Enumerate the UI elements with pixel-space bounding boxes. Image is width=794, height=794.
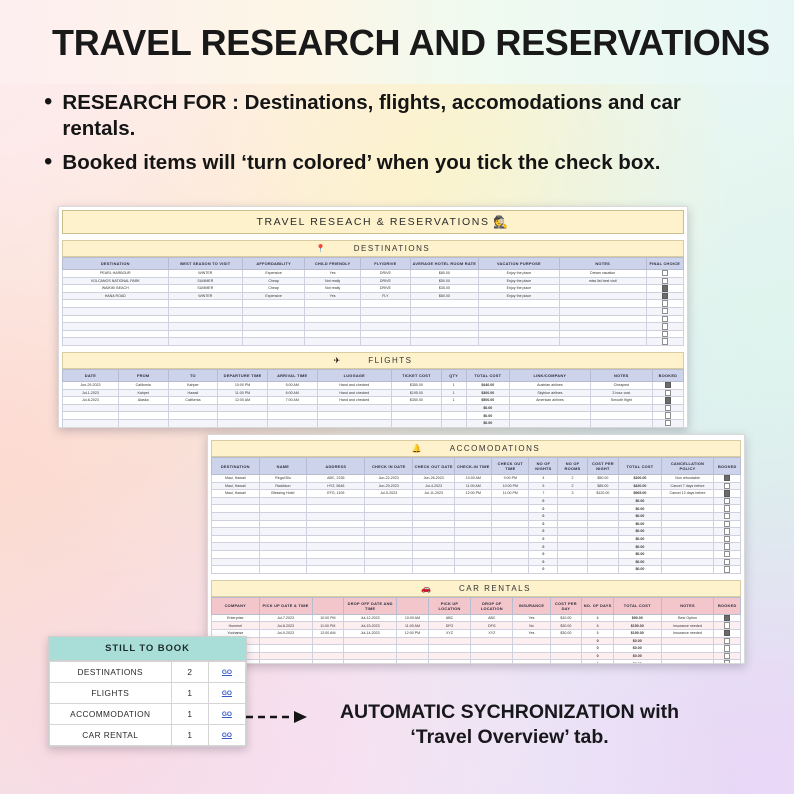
booked-checkbox-cell[interactable]	[646, 323, 683, 331]
table-cell[interactable]	[365, 558, 413, 566]
table-cell[interactable]: 12:00 AM	[312, 629, 344, 637]
table-cell[interactable]	[510, 427, 591, 428]
booked-checkbox-cell[interactable]	[714, 475, 741, 483]
table-cell[interactable]	[661, 645, 714, 653]
table-cell[interactable]: Hand and checked	[317, 397, 392, 405]
table-cell[interactable]: ABC	[471, 614, 513, 622]
table-cell[interactable]: 11:00 PM	[492, 490, 529, 498]
table-cell[interactable]	[587, 520, 619, 528]
table-cell[interactable]	[397, 660, 429, 664]
table-cell[interactable]	[168, 307, 243, 315]
booked-checkbox-cell[interactable]	[714, 490, 741, 498]
table-cell[interactable]: XYZ	[428, 629, 470, 637]
table-row[interactable]	[63, 323, 684, 331]
table-cell[interactable]: California	[168, 397, 218, 405]
table-cell[interactable]	[455, 558, 492, 566]
table-cell[interactable]	[587, 497, 619, 505]
booked-checkbox-cell[interactable]	[714, 622, 741, 630]
table-cell[interactable]	[307, 512, 365, 520]
checkbox-unchecked-icon[interactable]	[724, 528, 730, 534]
table-cell[interactable]	[168, 419, 218, 427]
table-cell[interactable]	[63, 315, 169, 323]
table-cell[interactable]: $0.00	[613, 652, 661, 660]
table-cell[interactable]	[455, 505, 492, 513]
table-cell[interactable]: $0.00	[619, 497, 661, 505]
table-cell[interactable]	[559, 307, 646, 315]
table-cell[interactable]: Hummel	[212, 622, 260, 630]
table-cell[interactable]	[479, 307, 560, 315]
table-cell[interactable]: $100.00	[619, 475, 661, 483]
table-cell[interactable]	[413, 543, 455, 551]
table-cell[interactable]	[455, 543, 492, 551]
table-cell[interactable]	[397, 645, 429, 653]
table-cell[interactable]: 0	[529, 528, 558, 536]
table-cell[interactable]: 0	[529, 512, 558, 520]
table-cell[interactable]	[559, 292, 646, 300]
booked-checkbox-cell[interactable]	[714, 543, 741, 551]
table-row[interactable]: 0$0.00	[212, 497, 741, 505]
table-cell[interactable]: $500.00	[466, 397, 509, 405]
table-cell[interactable]: 3 hour cost	[590, 389, 652, 397]
table-cell[interactable]	[365, 520, 413, 528]
table-cell[interactable]	[307, 528, 365, 536]
checkbox-checked-icon[interactable]	[662, 293, 668, 299]
table-cell[interactable]	[661, 566, 714, 574]
table-cell[interactable]: $120.00	[587, 490, 619, 498]
table-cell[interactable]: 6	[582, 614, 614, 622]
table-cell[interactable]: SUMMER	[168, 285, 243, 293]
table-cell[interactable]	[259, 645, 312, 653]
table-cell[interactable]	[307, 497, 365, 505]
table-cell[interactable]: Jul-11-2023	[413, 490, 455, 498]
table-row[interactable]: HANA ROADWINTERExpensiveYesFLY$60.00Enjo…	[63, 292, 684, 300]
booked-checkbox-cell[interactable]	[646, 270, 683, 278]
checkbox-checked-icon[interactable]	[724, 490, 730, 496]
table-cell[interactable]: $30.00	[550, 629, 582, 637]
table-cell[interactable]	[471, 637, 513, 645]
table-cell[interactable]: $0.00	[466, 412, 509, 420]
table-cell[interactable]	[361, 315, 411, 323]
table-cell[interactable]	[168, 412, 218, 420]
table-cell[interactable]	[365, 550, 413, 558]
table-cell[interactable]	[455, 512, 492, 520]
table-cell[interactable]	[559, 300, 646, 308]
table-cell[interactable]	[661, 550, 714, 558]
table-cell[interactable]	[479, 330, 560, 338]
table-cell[interactable]	[558, 497, 587, 505]
table-cell[interactable]	[365, 512, 413, 520]
table-cell[interactable]: DRIVE	[361, 285, 411, 293]
table-cell[interactable]	[212, 558, 260, 566]
table-cell[interactable]: Expensive	[243, 270, 305, 278]
table-cell[interactable]	[587, 512, 619, 520]
table-cell[interactable]	[212, 512, 260, 520]
checkbox-checked-icon[interactable]	[662, 285, 668, 291]
table-cell[interactable]	[63, 419, 119, 427]
booked-checkbox-cell[interactable]	[652, 419, 683, 427]
table-cell[interactable]	[492, 520, 529, 528]
table-cell[interactable]	[63, 404, 119, 412]
table-cell[interactable]	[587, 550, 619, 558]
table-cell[interactable]	[305, 300, 361, 308]
table-cell[interactable]	[361, 323, 411, 331]
table-cell[interactable]: 5	[529, 482, 558, 490]
table-cell[interactable]: $0.00	[466, 404, 509, 412]
table-cell[interactable]	[550, 637, 582, 645]
table-cell[interactable]: Yes	[513, 614, 550, 622]
checkbox-unchecked-icon[interactable]	[724, 566, 730, 572]
table-cell[interactable]	[471, 652, 513, 660]
checkbox-unchecked-icon[interactable]	[665, 420, 671, 426]
table-cell[interactable]	[259, 550, 307, 558]
table-cell[interactable]: DRIVE	[361, 270, 411, 278]
table-cell[interactable]: 0	[529, 550, 558, 558]
table-cell[interactable]: Raddison	[259, 482, 307, 490]
table-cell[interactable]	[558, 550, 587, 558]
table-cell[interactable]: Cancel 7 days before	[661, 482, 714, 490]
table-cell[interactable]	[661, 528, 714, 536]
table-cell[interactable]: Not really	[305, 285, 361, 293]
table-cell[interactable]: $35.00	[410, 285, 478, 293]
booked-checkbox-cell[interactable]	[646, 330, 683, 338]
table-cell[interactable]	[307, 505, 365, 513]
checkbox-unchecked-icon[interactable]	[665, 405, 671, 411]
table-cell[interactable]: 0	[582, 660, 614, 664]
booked-checkbox-cell[interactable]	[714, 629, 741, 637]
table-cell[interactable]	[259, 543, 307, 551]
table-cell[interactable]: 10:00 PM	[492, 482, 529, 490]
table-cell[interactable]	[661, 558, 714, 566]
table-row[interactable]	[63, 330, 684, 338]
table-cell[interactable]	[492, 505, 529, 513]
table-cell[interactable]: 6:00 AM	[267, 389, 317, 397]
table-cell[interactable]	[305, 330, 361, 338]
table-cell[interactable]: $0.00	[619, 505, 661, 513]
table-cell[interactable]: Kahper	[168, 381, 218, 389]
table-cell[interactable]: Enjoy the place	[479, 277, 560, 285]
table-cell[interactable]: 0	[529, 566, 558, 574]
table-cell[interactable]	[168, 323, 243, 331]
table-cell[interactable]	[550, 652, 582, 660]
table-cell[interactable]: 0	[582, 652, 614, 660]
table-cell[interactable]	[63, 412, 119, 420]
still-to-book-row[interactable]: DESTINATIONS2GO	[50, 662, 246, 683]
table-row[interactable]: Maui, HawaiiBlessing HotelEFG, 1109Jul-5…	[212, 490, 741, 498]
table-cell[interactable]: Austrian airlines	[510, 381, 591, 389]
table-cell[interactable]	[243, 307, 305, 315]
table-cell[interactable]	[267, 412, 317, 420]
table-cell[interactable]	[661, 512, 714, 520]
table-cell[interactable]	[410, 323, 478, 331]
table-cell[interactable]	[413, 566, 455, 574]
booked-checkbox-cell[interactable]	[652, 397, 683, 405]
table-cell[interactable]	[168, 330, 243, 338]
checkbox-unchecked-icon[interactable]	[724, 660, 730, 664]
booked-checkbox-cell[interactable]	[714, 637, 741, 645]
table-cell[interactable]: $965.00	[619, 490, 661, 498]
table-cell[interactable]: $0.00	[619, 566, 661, 574]
checkbox-unchecked-icon[interactable]	[662, 331, 668, 337]
table-cell[interactable]	[558, 535, 587, 543]
table-cell[interactable]	[413, 505, 455, 513]
table-cell[interactable]	[317, 404, 392, 412]
table-cell[interactable]: Best Option	[661, 614, 714, 622]
table-cell[interactable]	[661, 497, 714, 505]
table-cell[interactable]	[218, 419, 268, 427]
table-cell[interactable]	[441, 404, 466, 412]
table-cell[interactable]: 5	[582, 629, 614, 637]
table-cell[interactable]: $30.00	[550, 622, 582, 630]
booked-checkbox-cell[interactable]	[714, 566, 741, 574]
table-cell[interactable]: $440.00	[466, 381, 509, 389]
checkbox-checked-icon[interactable]	[665, 397, 671, 403]
table-cell[interactable]	[558, 566, 587, 574]
table-cell[interactable]: Cancel 12 days before	[661, 490, 714, 498]
table-cell[interactable]: 12:00 AM	[218, 397, 268, 405]
table-cell[interactable]: $350.00	[392, 397, 442, 405]
table-cell[interactable]	[305, 315, 361, 323]
still-to-book-go-link[interactable]: GO	[208, 725, 245, 746]
table-cell[interactable]	[317, 427, 392, 428]
table-cell[interactable]: Hand and checked	[317, 381, 392, 389]
table-cell[interactable]: 0	[529, 558, 558, 566]
table-cell[interactable]	[492, 535, 529, 543]
table-cell[interactable]	[590, 412, 652, 420]
table-cell[interactable]	[413, 550, 455, 558]
table-row[interactable]: Maui, HawaiiRaddisonHYZ, 5648Jun-29-2023…	[212, 482, 741, 490]
table-row[interactable]: 0$0.00	[212, 637, 741, 645]
table-cell[interactable]	[63, 323, 169, 331]
table-cell[interactable]: Blessing Hotel	[259, 490, 307, 498]
checkbox-unchecked-icon[interactable]	[662, 323, 668, 329]
table-accomodations[interactable]: DESTINATIONNAMEADDRESSCHECK IN DATECHECK…	[211, 457, 741, 574]
checkbox-unchecked-icon[interactable]	[724, 536, 730, 542]
checkbox-unchecked-icon[interactable]	[724, 521, 730, 527]
table-cell[interactable]: 3	[558, 490, 587, 498]
table-cell[interactable]: WINTER	[168, 270, 243, 278]
table-cell[interactable]: Jul-12-2023	[344, 614, 397, 622]
booked-checkbox-cell[interactable]	[714, 645, 741, 653]
table-cell[interactable]	[492, 528, 529, 536]
checkbox-unchecked-icon[interactable]	[724, 543, 730, 549]
table-cell[interactable]	[558, 520, 587, 528]
booked-checkbox-cell[interactable]	[646, 300, 683, 308]
table-cell[interactable]	[259, 512, 307, 520]
table-cell[interactable]: Yes	[513, 629, 550, 637]
table-cell[interactable]	[587, 535, 619, 543]
table-cell[interactable]: $195.00	[392, 389, 442, 397]
table-cell[interactable]	[441, 419, 466, 427]
checkbox-unchecked-icon[interactable]	[724, 551, 730, 557]
table-cell[interactable]	[212, 528, 260, 536]
booked-checkbox-cell[interactable]	[714, 528, 741, 536]
table-cell[interactable]	[661, 652, 714, 660]
checkbox-unchecked-icon[interactable]	[662, 300, 668, 306]
table-cell[interactable]	[63, 338, 169, 346]
table-cell[interactable]: $190.00	[613, 629, 661, 637]
checkbox-unchecked-icon[interactable]	[724, 622, 730, 628]
booked-checkbox-cell[interactable]	[646, 285, 683, 293]
booked-checkbox-cell[interactable]	[652, 427, 683, 428]
table-cell[interactable]	[212, 497, 260, 505]
table-cell[interactable]	[307, 566, 365, 574]
table-cell[interactable]	[587, 505, 619, 513]
table-cell[interactable]	[587, 543, 619, 551]
table-cell[interactable]: VOLCANOS NATIONAL PARK	[63, 277, 169, 285]
table-row[interactable]: Jun-29-2023CaliforniaKahper10:00 PM5:00 …	[63, 381, 684, 389]
table-cell[interactable]: 0	[529, 520, 558, 528]
table-cell[interactable]: Hawaii	[168, 389, 218, 397]
table-cell[interactable]	[510, 419, 591, 427]
table-cell[interactable]	[558, 512, 587, 520]
table-cell[interactable]: Skyblue airlines	[510, 389, 591, 397]
table-cell[interactable]: 0	[529, 535, 558, 543]
table-cell[interactable]	[392, 419, 442, 427]
table-cell[interactable]	[559, 330, 646, 338]
checkbox-unchecked-icon[interactable]	[662, 316, 668, 322]
table-cell[interactable]: 7:00 AM	[267, 397, 317, 405]
table-row[interactable]: $0.00	[63, 427, 684, 428]
booked-checkbox-cell[interactable]	[714, 550, 741, 558]
table-cell[interactable]	[455, 566, 492, 574]
table-cell[interactable]: XYZ	[471, 629, 513, 637]
table-row[interactable]	[63, 300, 684, 308]
table-cell[interactable]	[168, 404, 218, 412]
table-cell[interactable]	[492, 558, 529, 566]
table-cell[interactable]	[317, 412, 392, 420]
table-cell[interactable]	[392, 427, 442, 428]
table-row[interactable]: WAIKIKI BEACHSUMMERCheapNot reallyDRIVE$…	[63, 285, 684, 293]
table-cell[interactable]	[307, 550, 365, 558]
table-cell[interactable]	[428, 660, 470, 664]
table-cell[interactable]: American airlines	[510, 397, 591, 405]
table-cell[interactable]: Jul-14-2023	[344, 629, 397, 637]
table-cell[interactable]	[63, 300, 169, 308]
table-cell[interactable]: $50.00	[410, 277, 478, 285]
still-to-book-row[interactable]: ACCOMMODATION1GO	[50, 704, 246, 725]
table-cell[interactable]	[590, 427, 652, 428]
table-cell[interactable]	[492, 497, 529, 505]
table-row[interactable]: HummelJul-8-202311:00 PMJul-15-202311:00…	[212, 622, 741, 630]
table-cell[interactable]	[492, 512, 529, 520]
table-cell[interactable]	[661, 660, 714, 664]
table-cell[interactable]: $85.00	[587, 482, 619, 490]
table-cell[interactable]: Jul-6-2023	[63, 397, 119, 405]
table-row[interactable]: VOLCANOS NATIONAL PARKSUMMERCheapNot rea…	[63, 277, 684, 285]
table-cell[interactable]: $0.00	[619, 535, 661, 543]
table-cell[interactable]	[259, 660, 312, 664]
table-cell[interactable]	[259, 566, 307, 574]
checkbox-unchecked-icon[interactable]	[724, 645, 730, 651]
table-cell[interactable]	[243, 330, 305, 338]
table-cell[interactable]	[267, 427, 317, 428]
table-cell[interactable]	[510, 404, 591, 412]
table-cell[interactable]	[410, 338, 478, 346]
table-cell[interactable]: DFG	[471, 622, 513, 630]
table-row[interactable]: 0$0.00	[212, 550, 741, 558]
checkbox-unchecked-icon[interactable]	[662, 278, 668, 284]
booked-checkbox-cell[interactable]	[714, 512, 741, 520]
table-cell[interactable]	[428, 652, 470, 660]
table-cell[interactable]	[212, 566, 260, 574]
table-cell[interactable]	[410, 315, 478, 323]
booked-checkbox-cell[interactable]	[646, 277, 683, 285]
table-cell[interactable]: Insurance needed	[661, 629, 714, 637]
table-cell[interactable]: 2	[558, 482, 587, 490]
table-cell[interactable]: Enjoy the place	[479, 285, 560, 293]
table-row[interactable]: 0$0.00	[212, 512, 741, 520]
table-cell[interactable]: $80.00	[410, 270, 478, 278]
table-cell[interactable]	[455, 520, 492, 528]
booked-checkbox-cell[interactable]	[652, 404, 683, 412]
table-cell[interactable]	[259, 520, 307, 528]
table-cell[interactable]	[344, 645, 397, 653]
checkbox-unchecked-icon[interactable]	[662, 270, 668, 276]
table-cell[interactable]: 1	[441, 381, 466, 389]
table-cell[interactable]	[259, 528, 307, 536]
table-cell[interactable]: Dream vacation	[559, 270, 646, 278]
booked-checkbox-cell[interactable]	[714, 482, 741, 490]
checkbox-unchecked-icon[interactable]	[724, 483, 730, 489]
spreadsheet-accomodations-carrentals[interactable]: 🔔 ACCOMODATIONS DESTINATIONNAMEADDRESSCH…	[207, 434, 745, 664]
table-cell[interactable]: 9:00 PM	[492, 475, 529, 483]
table-cell[interactable]	[559, 285, 646, 293]
table-cell[interactable]	[361, 330, 411, 338]
table-cell[interactable]	[63, 427, 119, 428]
spreadsheet-destinations-flights[interactable]: TRAVEL RESEACH & RESERVATIONS 🕵 📍 DESTIN…	[58, 206, 688, 428]
table-cell[interactable]	[361, 338, 411, 346]
table-cell[interactable]: 0	[529, 505, 558, 513]
table-cell[interactable]	[243, 323, 305, 331]
table-cell[interactable]	[413, 512, 455, 520]
booked-checkbox-cell[interactable]	[652, 389, 683, 397]
booked-checkbox-cell[interactable]	[714, 614, 741, 622]
table-cell[interactable]: 11:00 AM	[397, 622, 429, 630]
table-row[interactable]: 0$0.00	[212, 558, 741, 566]
table-cell[interactable]	[479, 323, 560, 331]
table-cell[interactable]: Yes	[305, 270, 361, 278]
booked-checkbox-cell[interactable]	[652, 381, 683, 389]
table-cell[interactable]	[479, 300, 560, 308]
table-cell[interactable]: Jun-29-2023	[63, 381, 119, 389]
table-cell[interactable]: Enjoy the place	[479, 292, 560, 300]
table-cell[interactable]: 11:00 PM	[218, 389, 268, 397]
checkbox-unchecked-icon[interactable]	[724, 559, 730, 565]
table-row[interactable]: PEARL HARBOURWINTERExpensiveYesDRIVE$80.…	[63, 270, 684, 278]
table-row[interactable]: 0$0.00	[212, 520, 741, 528]
table-cell[interactable]	[413, 558, 455, 566]
table-cell[interactable]: 0	[529, 497, 558, 505]
table-cell[interactable]: Yes	[305, 292, 361, 300]
table-body[interactable]: Jun-29-2023CaliforniaKahper10:00 PM5:00 …	[63, 381, 684, 428]
table-cell[interactable]	[413, 535, 455, 543]
table-cell[interactable]: $0.00	[613, 645, 661, 653]
table-cell[interactable]: 1	[441, 389, 466, 397]
booked-checkbox-cell[interactable]	[714, 520, 741, 528]
table-cell[interactable]	[212, 550, 260, 558]
table-cell[interactable]	[312, 652, 344, 660]
table-cell[interactable]: Enjoy the place	[479, 270, 560, 278]
booked-checkbox-cell[interactable]	[652, 412, 683, 420]
table-cell[interactable]: Enterprise	[212, 614, 260, 622]
table-cell[interactable]	[212, 505, 260, 513]
checkbox-unchecked-icon[interactable]	[662, 338, 668, 344]
table-cell[interactable]: Jun-26-2023	[413, 475, 455, 483]
table-cell[interactable]	[312, 645, 344, 653]
booked-checkbox-cell[interactable]	[714, 497, 741, 505]
table-cell[interactable]	[441, 427, 466, 428]
table-cell[interactable]: Regal Blu	[259, 475, 307, 483]
